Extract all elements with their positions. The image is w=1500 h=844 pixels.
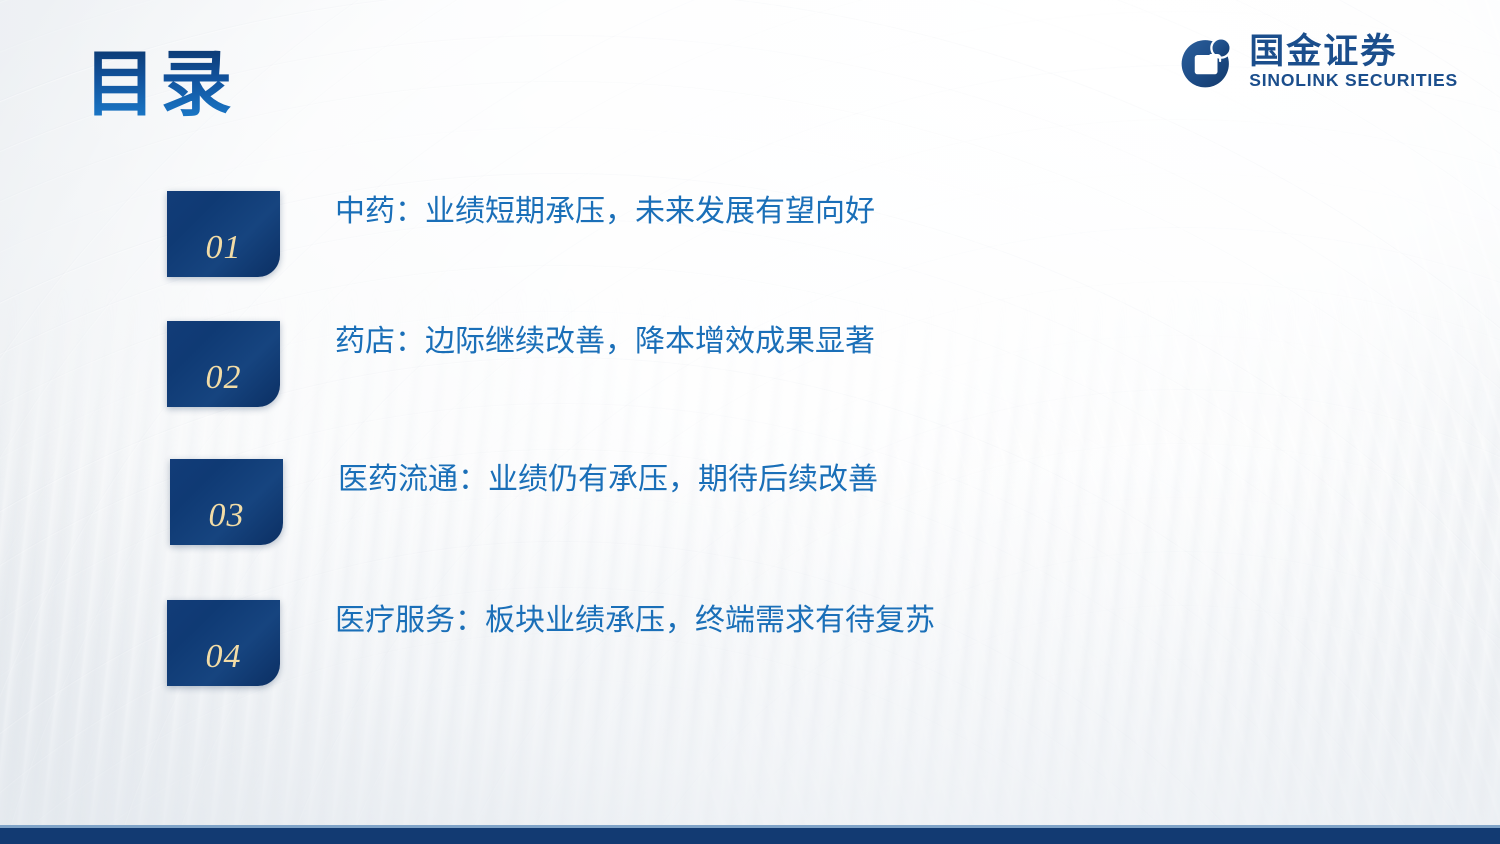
toc-label-03[interactable]: 医药流通：业绩仍有承压，期待后续改善 bbox=[338, 465, 878, 495]
toc-label-02[interactable]: 药店：边际继续改善，降本增效成果显著 bbox=[335, 327, 875, 357]
toc-number-badge-02: 02 bbox=[167, 321, 280, 407]
toc-item-01[interactable]: 01 中药：业绩短期承压，未来发展有望向好 bbox=[167, 191, 875, 277]
toc-item-04[interactable]: 04 医疗服务：板块业绩承压，终端需求有待复苏 bbox=[167, 600, 935, 686]
toc-number-badge-03: 03 bbox=[170, 459, 283, 545]
footer-bar bbox=[0, 828, 1500, 844]
table-of-contents: 01 中药：业绩短期承压，未来发展有望向好 02 药店：边际继续改善，降本增效成… bbox=[0, 0, 1500, 844]
toc-item-03[interactable]: 03 医药流通：业绩仍有承压，期待后续改善 bbox=[170, 459, 878, 545]
toc-number-04: 04 bbox=[206, 638, 242, 676]
toc-label-01[interactable]: 中药：业绩短期承压，未来发展有望向好 bbox=[335, 197, 875, 227]
toc-number-badge-04: 04 bbox=[167, 600, 280, 686]
toc-number-03: 03 bbox=[209, 497, 245, 535]
toc-number-02: 02 bbox=[206, 359, 242, 397]
toc-number-badge-01: 01 bbox=[167, 191, 280, 277]
toc-number-01: 01 bbox=[206, 229, 242, 267]
toc-label-04[interactable]: 医疗服务：板块业绩承压，终端需求有待复苏 bbox=[335, 606, 935, 636]
toc-item-02[interactable]: 02 药店：边际继续改善，降本增效成果显著 bbox=[167, 321, 875, 407]
presentation-slide: 国金证券 SINOLINK SECURITIES 目录 01 中药：业绩短期承压… bbox=[0, 0, 1500, 844]
